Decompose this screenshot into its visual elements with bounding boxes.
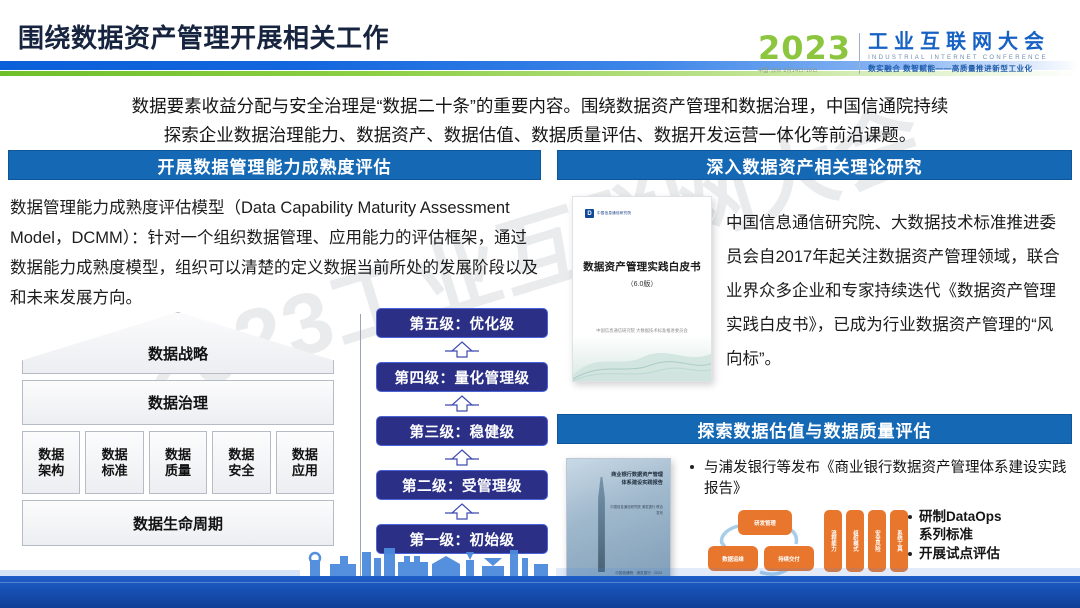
whitepaper-org-logo: D 中国信息通信研究院 (585, 209, 631, 218)
house-pillar: 数据 安全 (212, 431, 270, 494)
house-pillar-line1: 数据 (102, 447, 128, 463)
logo-english-title: INDUSTRIAL INTERNET CONFERENCE (868, 55, 1050, 61)
dcmm-description: 数据管理能力成熟度评估模型（Data Capability Maturity A… (10, 193, 538, 313)
footer-water-band (0, 576, 1080, 608)
house-pillar: 数据 标准 (85, 431, 143, 494)
logo-subtitle: 数实融合 数智赋能——高质量推进新型工业化 (868, 63, 1050, 74)
house-pillar-line2: 架构 (38, 463, 64, 479)
house-pillar-line1: 数据 (165, 447, 191, 463)
whitepaper-version: （6.0版） (573, 279, 711, 289)
maturity-level-3: 第三级：稳健级 (376, 416, 548, 446)
house-roof: 数据战略 (22, 312, 334, 374)
maturity-level-2: 第二级：受管理级 (376, 470, 548, 500)
bullet-dot-icon (690, 465, 694, 469)
logo-year: 2023 (758, 32, 851, 64)
dataops-cycle-box: 研发管理 (738, 510, 792, 535)
whitepaper-title: 数据资产管理实践白皮书 (581, 259, 703, 274)
level-arrow-up-icon (376, 392, 548, 416)
intro-paragraph: 数据要素收益分配与安全治理是“数据二十条”的重要内容。围绕数据资产管理和数据治理… (44, 92, 1036, 150)
logo-date: 中国·苏州 8月14日-16日 (758, 67, 851, 74)
column-divider (360, 314, 361, 576)
bullet-dot-icon (908, 515, 912, 519)
house-pillar-line2: 安全 (228, 463, 254, 479)
page-title: 围绕数据资产管理开展相关工作 (18, 18, 389, 55)
logo-main-title: 工业互联网大会 (868, 32, 1050, 53)
house-governance-band: 数据治理 (22, 380, 334, 425)
maturity-level-4: 第四级：量化管理级 (376, 362, 548, 392)
level-arrow-up-icon (376, 338, 548, 362)
house-pillar: 数据 质量 (149, 431, 207, 494)
slide-header: 围绕数据资产管理开展相关工作 2023 中国·苏州 8月14日-16日 工业互联… (0, 0, 1080, 82)
whitepaper-publisher-name: 中国信息通信研究院 大数据技术标准推进委员会 (596, 328, 687, 333)
dataops-bullet-line1: 研制DataOps (919, 509, 1002, 524)
logo-divider (859, 33, 860, 74)
house-pillar-line1: 数据 (38, 447, 64, 463)
bank-report-bullet: 与浦发银行等发布《商业银行数据资产管理体系建设实践报告》 (690, 458, 1070, 500)
house-pillar-line1: 数据 (228, 447, 254, 463)
house-pillar: 数据 应用 (276, 431, 334, 494)
house-pillar-line2: 应用 (292, 463, 318, 479)
house-pillar-line1: 数据 (292, 447, 318, 463)
bank-report-title: 商业银行数据资产管理体系建设实践报告 (609, 471, 663, 487)
whitepaper-cover-image: D 中国信息通信研究院 数据资产管理实践白皮书 （6.0版） 中国信息通信研究院… (572, 196, 712, 382)
section-header-left: 开展数据管理能力成熟度评估 (8, 150, 541, 180)
city-skyline-graphic (0, 538, 1080, 578)
house-pillar-line2: 质量 (165, 463, 191, 479)
bank-report-subtitle: 中国信息通信研究院 浦发银行 联合发布 (609, 504, 663, 516)
conference-logo: 2023 中国·苏州 8月14日-16日 工业互联网大会 INDUSTRIAL … (758, 32, 1074, 78)
house-pillars: 数据 架构 数据 标准 数据 质量 数据 安全 数据 应用 (22, 431, 334, 494)
slide-root: 2023工业互联网大会 围绕数据资产管理开展相关工作 2023 中国·苏州 8月… (0, 0, 1080, 608)
whitepaper-org-name: 中国信息通信研究院 (597, 211, 631, 216)
theory-description: 中国信息通信研究院、大数据技术标准推进委员会自2017年起关注数据资产管理领域，… (726, 206, 1066, 376)
house-pillar: 数据 架构 (22, 431, 80, 494)
section-header-right-theory: 深入数据资产相关理论研究 (557, 150, 1072, 180)
whitepaper-wave-graphic (573, 335, 711, 381)
intro-line-2: 探索企业数据治理能力、数据资产、数据估值、数据质量评估、数据开发运营一体化等前沿… (44, 121, 1036, 150)
house-roof-label: 数据战略 (22, 343, 334, 364)
bank-report-bullet-text: 与浦发银行等发布《商业银行数据资产管理体系建设实践报告》 (704, 458, 1070, 500)
section-header-right-valuation: 探索数据估值与数据质量评估 (557, 414, 1072, 444)
level-arrow-up-icon (376, 500, 548, 524)
house-pillar-line2: 标准 (102, 463, 128, 479)
intro-line-1: 数据要素收益分配与安全治理是“数据二十条”的重要内容。围绕数据资产管理和数据治理… (44, 92, 1036, 121)
level-arrow-up-icon (376, 446, 548, 470)
caict-logo-icon: D (585, 209, 594, 218)
maturity-level-5: 第五级：优化级 (376, 308, 548, 338)
